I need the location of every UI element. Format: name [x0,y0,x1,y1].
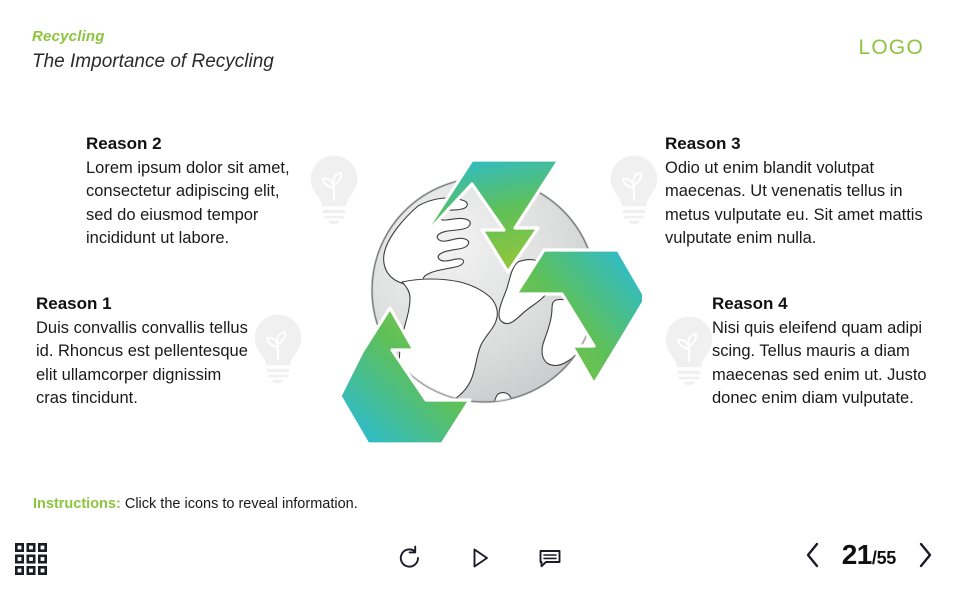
reason-block-2: Reason 2 Lorem ipsum dolor sit amet, con… [86,133,296,251]
slide-canvas: Recycling The Importance of Recycling LO… [0,0,960,590]
lightbulb-plant-icon-1[interactable] [249,311,307,385]
comment-icon [537,545,563,571]
instructions-line: Instructions: Click the icons to reveal … [33,494,358,514]
reason-block-3: Reason 3 Odio ut enim blandit volutpat m… [665,133,940,251]
slide-header: Recycling The Importance of Recycling [32,28,274,74]
reason-3-body: Odio ut enim blandit volutpat maecenas. … [665,157,940,251]
reason-4-title: Reason 4 [712,293,944,316]
recycling-globe-illustration [322,132,642,444]
reason-1-body: Duis convallis convallis tellus id. Rhon… [36,317,254,411]
replay-icon [397,545,423,571]
course-kicker: Recycling [32,28,274,47]
reason-2-body: Lorem ipsum dolor sit amet, consectetur … [86,157,296,251]
play-button[interactable] [462,540,498,576]
reason-3-title: Reason 3 [665,133,940,156]
reason-block-4: Reason 4 Nisi quis eleifend quam adipi s… [712,293,944,411]
prev-slide-button[interactable] [800,538,826,572]
chevron-left-icon [803,541,823,569]
page-title: The Importance of Recycling [32,49,274,75]
chevron-right-icon [915,541,935,569]
next-slide-button[interactable] [912,538,938,572]
lightbulb-plant-icon-4[interactable] [660,313,718,387]
reason-2-title: Reason 2 [86,133,296,156]
replay-button[interactable] [392,540,428,576]
player-bar: 21 /55 [0,528,960,590]
reason-4-body: Nisi quis eleifend quam adipi scing. Tel… [712,317,944,411]
reason-block-1: Reason 1 Duis convallis convallis tellus… [36,293,254,411]
instructions-label: Instructions: [33,496,121,512]
play-icon [467,545,493,571]
page-counter: 21 /55 [842,539,896,571]
page-total: /55 [872,548,896,569]
instructions-text: Click the icons to reveal information. [125,496,358,512]
logo: LOGO [859,36,924,60]
reason-1-title: Reason 1 [36,293,254,316]
page-current: 21 [842,539,872,571]
comment-button[interactable] [532,540,568,576]
pagination: 21 /55 [800,538,938,572]
